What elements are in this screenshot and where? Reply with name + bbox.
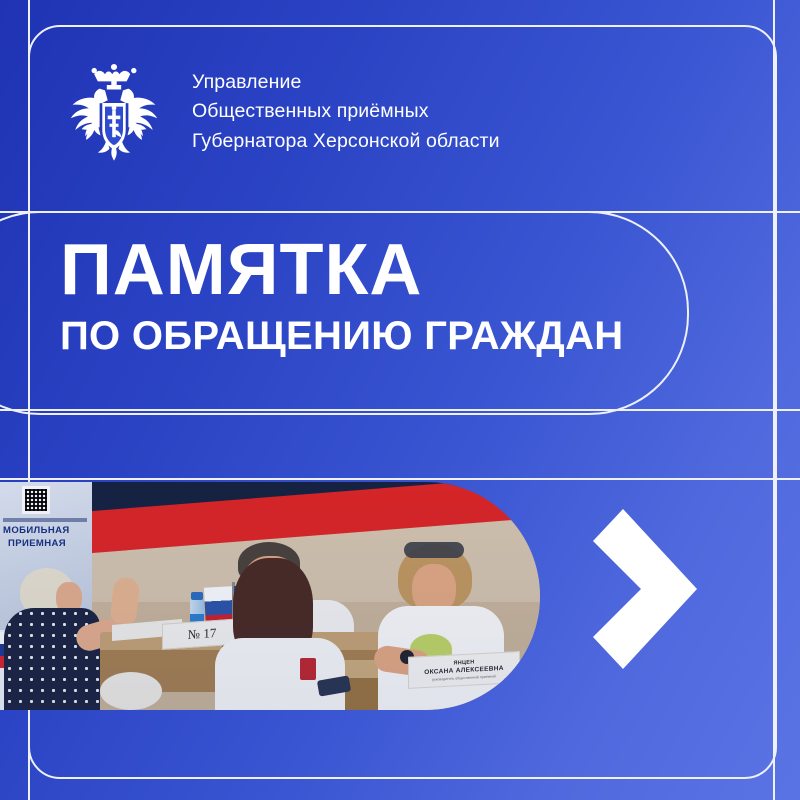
photo-tint-overlay (0, 482, 540, 710)
horizontal-rule-lower (0, 478, 800, 480)
chevron-right-icon[interactable] (585, 495, 705, 683)
photo-reception: МОБИЛЬНАЯ ПРИЕМНАЯ (0, 482, 540, 710)
org-line-1: Управление (192, 68, 500, 97)
double-headed-eagle-crest-icon (60, 58, 168, 166)
organization-name: Управление Общественных приёмных Губерна… (192, 68, 500, 156)
org-line-3: Губернатора Херсонской области (192, 127, 500, 156)
poster-root: Управление Общественных приёмных Губерна… (0, 0, 800, 800)
right-vertical-rule (773, 0, 775, 800)
page-title: ПАМЯТКА (60, 236, 623, 304)
org-line-2: Общественных приёмных (192, 97, 500, 126)
photo-scene: МОБИЛЬНАЯ ПРИЕМНАЯ (0, 482, 540, 710)
title-block: ПАМЯТКА ПО ОБРАЩЕНИЮ ГРАЖДАН (60, 236, 623, 356)
page-subtitle: ПО ОБРАЩЕНИЮ ГРАЖДАН (60, 316, 623, 356)
header: Управление Общественных приёмных Губерна… (60, 58, 500, 166)
